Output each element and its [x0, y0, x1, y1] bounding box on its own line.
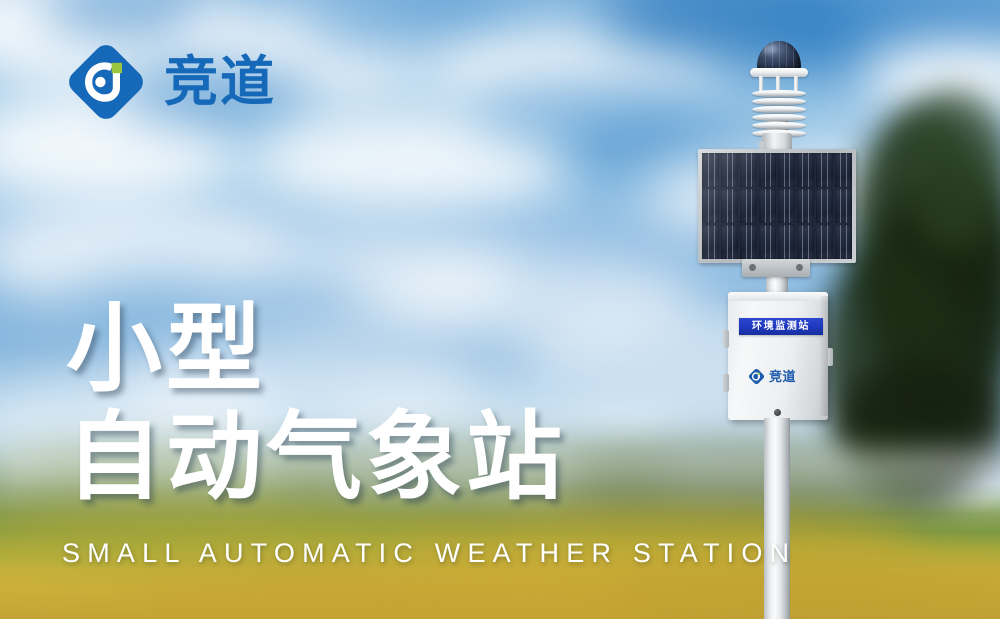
enclosure-hinge-left: [723, 330, 729, 348]
brand-name: 竞道: [164, 55, 276, 109]
enclosure-hinge-left-2: [723, 374, 729, 392]
sensor-dome-icon: [757, 41, 801, 71]
radiation-shield-icon: [752, 90, 806, 138]
panel-mount-bracket: [742, 259, 810, 277]
enclosure-box: 环境监测站 竞道: [728, 292, 828, 420]
jingdao-diamond-logo-icon: [748, 368, 765, 385]
enclosure-label-band: 环境监测站: [739, 318, 823, 335]
headline-subtitle: SMALL AUTOMATIC WEATHER STATION: [62, 538, 796, 569]
mast-pole-lower-icon: [764, 418, 790, 619]
headline-line-2: 自动气象站: [66, 404, 566, 512]
headline-block: 小型 自动气象站: [66, 296, 566, 511]
enclosure-brand-text: 竞道: [769, 370, 796, 383]
enclosure-label-text: 环境监测站: [752, 322, 810, 332]
headline-line-1: 小型: [66, 296, 566, 404]
enclosure-lid: [728, 292, 828, 301]
solar-panel-icon: [698, 149, 856, 263]
screw-icon: [774, 409, 781, 416]
brand-logo[interactable]: 竞道: [66, 42, 276, 122]
product-banner: 环境监测站 竞道: [0, 0, 1000, 619]
enclosure-brand-logo: 竞道: [748, 368, 796, 385]
jingdao-diamond-logo-icon: [66, 42, 146, 122]
